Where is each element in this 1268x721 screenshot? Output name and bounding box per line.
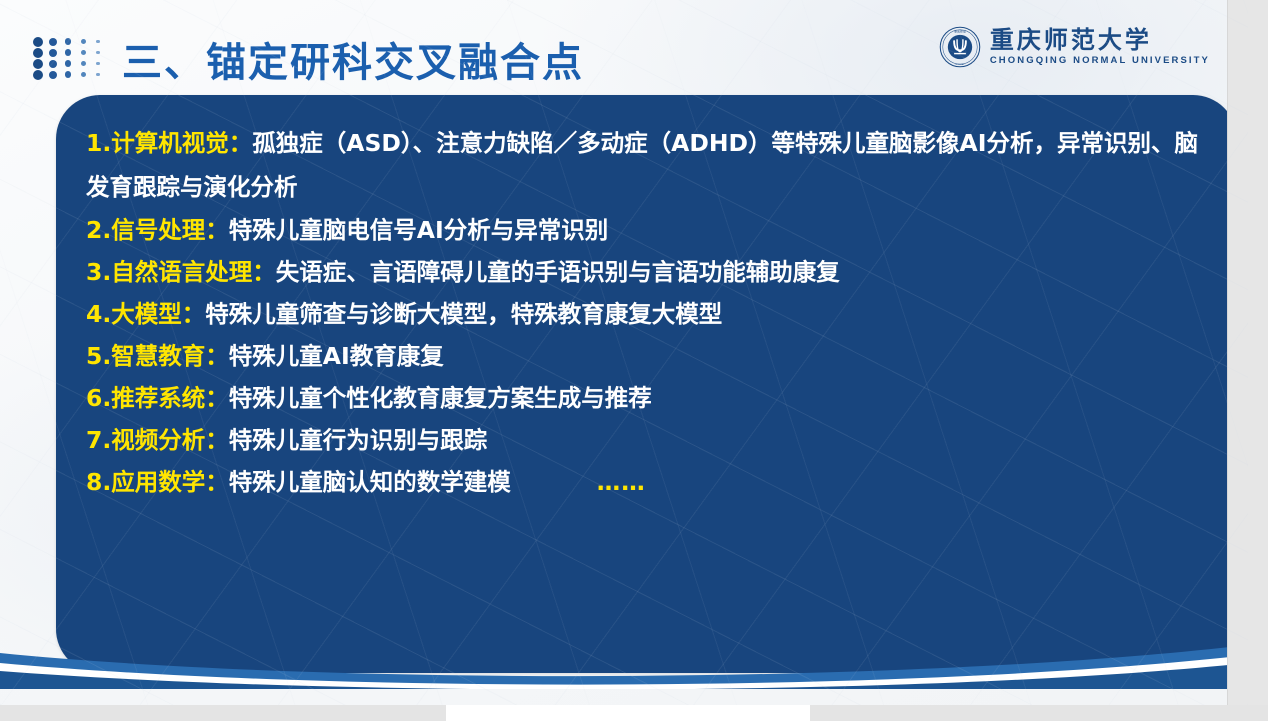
list-item: 6.推荐系统：特殊儿童个性化教育康复方案生成与推荐 bbox=[86, 377, 1219, 419]
list-item: 4.大模型：特殊儿童筛查与诊断大模型，特殊教育康复大模型 bbox=[86, 293, 1219, 335]
slide-header: 三、锚定研科交叉融合点 重庆师范 NORMAL 重庆师范大学 CHONGQING… bbox=[0, 0, 1248, 95]
list-item-key: 视频分析： bbox=[111, 426, 229, 454]
content-panel: 1.计算机视觉：孤独症（ASD）、注意力缺陷／多动症（ADHD）等特殊儿童脑影像… bbox=[56, 95, 1237, 673]
list-item-key: 信号处理： bbox=[111, 216, 229, 244]
right-gutter bbox=[1227, 0, 1248, 705]
list-item: 2.信号处理：特殊儿童脑电信号AI分析与异常识别 bbox=[86, 209, 1219, 251]
logo-chinese-name: 重庆师范大学 bbox=[990, 28, 1210, 52]
list-item-number: 3. bbox=[86, 258, 111, 286]
list-item-text: 特殊儿童AI教育康复 bbox=[229, 342, 444, 370]
list-item-key: 计算机视觉： bbox=[111, 129, 252, 157]
list-item-key: 应用数学： bbox=[111, 468, 229, 496]
list-item-key: 大模型： bbox=[111, 300, 205, 328]
dot-grid-icon bbox=[30, 36, 106, 80]
svg-text:NORMAL: NORMAL bbox=[955, 63, 965, 66]
logo-english-name: CHONGQING NORMAL UNIVERSITY bbox=[990, 56, 1210, 66]
list-item-number: 7. bbox=[86, 426, 111, 454]
list-item: 5.智慧教育：特殊儿童AI教育康复 bbox=[86, 335, 1219, 377]
list-item-text: 特殊儿童个性化教育康复方案生成与推荐 bbox=[229, 384, 652, 412]
page-title: 三、锚定研科交叉融合点 bbox=[122, 30, 584, 88]
bottom-white-tab bbox=[446, 705, 810, 721]
list-item: 1.计算机视觉：孤独症（ASD）、注意力缺陷／多动症（ADHD）等特殊儿童脑影像… bbox=[86, 121, 1219, 209]
slide-canvas: 三、锚定研科交叉融合点 重庆师范 NORMAL 重庆师范大学 CHONGQING… bbox=[0, 0, 1248, 705]
list-item-key: 推荐系统： bbox=[111, 384, 229, 412]
list-item-number: 1. bbox=[86, 129, 111, 157]
university-seal-icon: 重庆师范 NORMAL bbox=[939, 26, 981, 68]
svg-text:重庆师范: 重庆师范 bbox=[954, 28, 966, 33]
list-item-text: 失语症、言语障碍儿童的手语识别与言语功能辅助康复 bbox=[276, 258, 840, 286]
slide-root: 三、锚定研科交叉融合点 重庆师范 NORMAL 重庆师范大学 CHONGQING… bbox=[0, 0, 1268, 721]
list-item: 7.视频分析：特殊儿童行为识别与跟踪 bbox=[86, 419, 1219, 461]
list-item-text: 特殊儿童脑认知的数学建模 bbox=[229, 468, 511, 496]
list-item-number: 4. bbox=[86, 300, 111, 328]
list-item-number: 6. bbox=[86, 384, 111, 412]
list-item-text: 孤独症（ASD）、注意力缺陷／多动症（ADHD）等特殊儿童脑影像AI分析，异常识… bbox=[86, 129, 1198, 201]
list-item-key: 自然语言处理： bbox=[111, 258, 276, 286]
list-item-text: 特殊儿童行为识别与跟踪 bbox=[229, 426, 488, 454]
list-item-text: 特殊儿童脑电信号AI分析与异常识别 bbox=[229, 216, 608, 244]
list-item-number: 2. bbox=[86, 216, 111, 244]
content-list: 1.计算机视觉：孤独症（ASD）、注意力缺陷／多动症（ADHD）等特殊儿童脑影像… bbox=[86, 121, 1219, 503]
university-logo: 重庆师范 NORMAL 重庆师范大学 CHONGQING NORMAL UNIV… bbox=[939, 26, 1210, 68]
list-item-number: 8. bbox=[86, 468, 111, 496]
list-item: 8.应用数学：特殊儿童脑认知的数学建模…… bbox=[86, 461, 1219, 503]
list-item-key: 智慧教育： bbox=[111, 342, 229, 370]
list-item: 3.自然语言处理：失语症、言语障碍儿童的手语识别与言语功能辅助康复 bbox=[86, 251, 1219, 293]
bottom-strip bbox=[0, 705, 1268, 721]
list-item-text: 特殊儿童筛查与诊断大模型，特殊教育康复大模型 bbox=[205, 300, 722, 328]
list-item-number: 5. bbox=[86, 342, 111, 370]
list-item-trailing-ellipsis: …… bbox=[597, 461, 646, 503]
